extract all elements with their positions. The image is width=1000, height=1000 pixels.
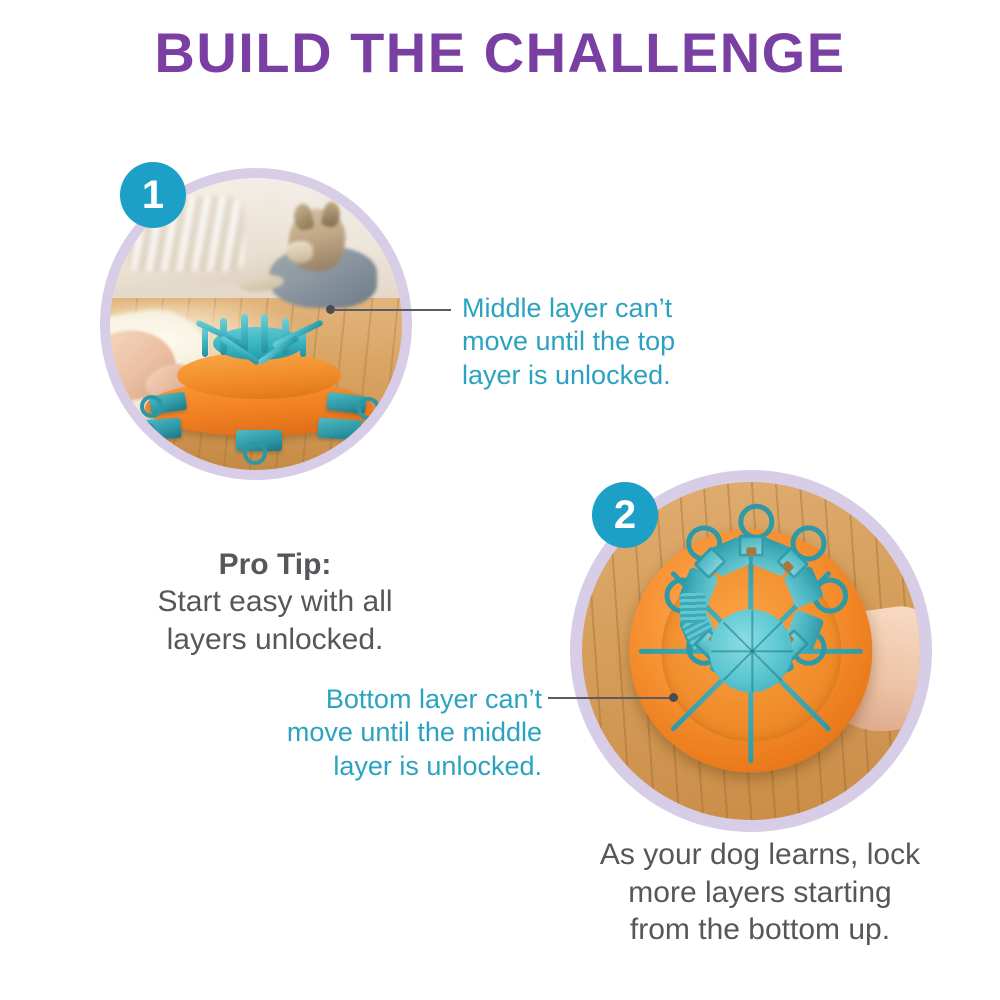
toy-pull-ring bbox=[357, 423, 380, 446]
hub-spoke bbox=[722, 621, 753, 652]
step-2-leader-line bbox=[548, 697, 674, 699]
toy-peg bbox=[261, 314, 268, 353]
step-1-callout-text: Middle layer can’t move until the top la… bbox=[462, 292, 762, 392]
treat bbox=[746, 547, 756, 555]
step-2-badge: 2 bbox=[592, 482, 658, 548]
puzzle-toy-top-view bbox=[629, 529, 872, 772]
step-2-leader-dot bbox=[669, 693, 678, 702]
toy-center-hub bbox=[710, 610, 793, 693]
bottom-caption: As your dog learns, lock more layers sta… bbox=[540, 836, 980, 949]
hub-spoke bbox=[751, 621, 782, 652]
dog bbox=[262, 213, 385, 312]
toy-pull-ring bbox=[357, 397, 380, 420]
page-title: BUILD THE CHALLENGE bbox=[0, 24, 1000, 83]
step-1-leader-line bbox=[333, 309, 451, 311]
hub-spoke bbox=[751, 651, 753, 692]
step-2-callout-text: Bottom layer can’t move until the middle… bbox=[230, 683, 542, 783]
dog-snout bbox=[286, 241, 313, 263]
toy-pull-ring bbox=[134, 422, 157, 445]
hub-spoke bbox=[751, 650, 782, 681]
puzzle-toy-side-view bbox=[145, 318, 373, 458]
hub-spoke bbox=[711, 650, 752, 652]
hub-spoke bbox=[722, 650, 753, 681]
pro-tip-heading: Pro Tip: bbox=[95, 546, 455, 584]
hub-spoke bbox=[752, 650, 793, 652]
hub-spoke bbox=[751, 610, 753, 651]
toy-ridged-block bbox=[679, 592, 706, 623]
pro-tip-body: Start easy with all layers unlocked. bbox=[157, 585, 392, 656]
step-1-badge: 1 bbox=[120, 162, 186, 228]
toy-peg bbox=[202, 327, 208, 358]
pro-tip-caption: Pro Tip:Start easy with all layers unloc… bbox=[95, 508, 455, 658]
toy-slide-tab bbox=[317, 418, 362, 441]
